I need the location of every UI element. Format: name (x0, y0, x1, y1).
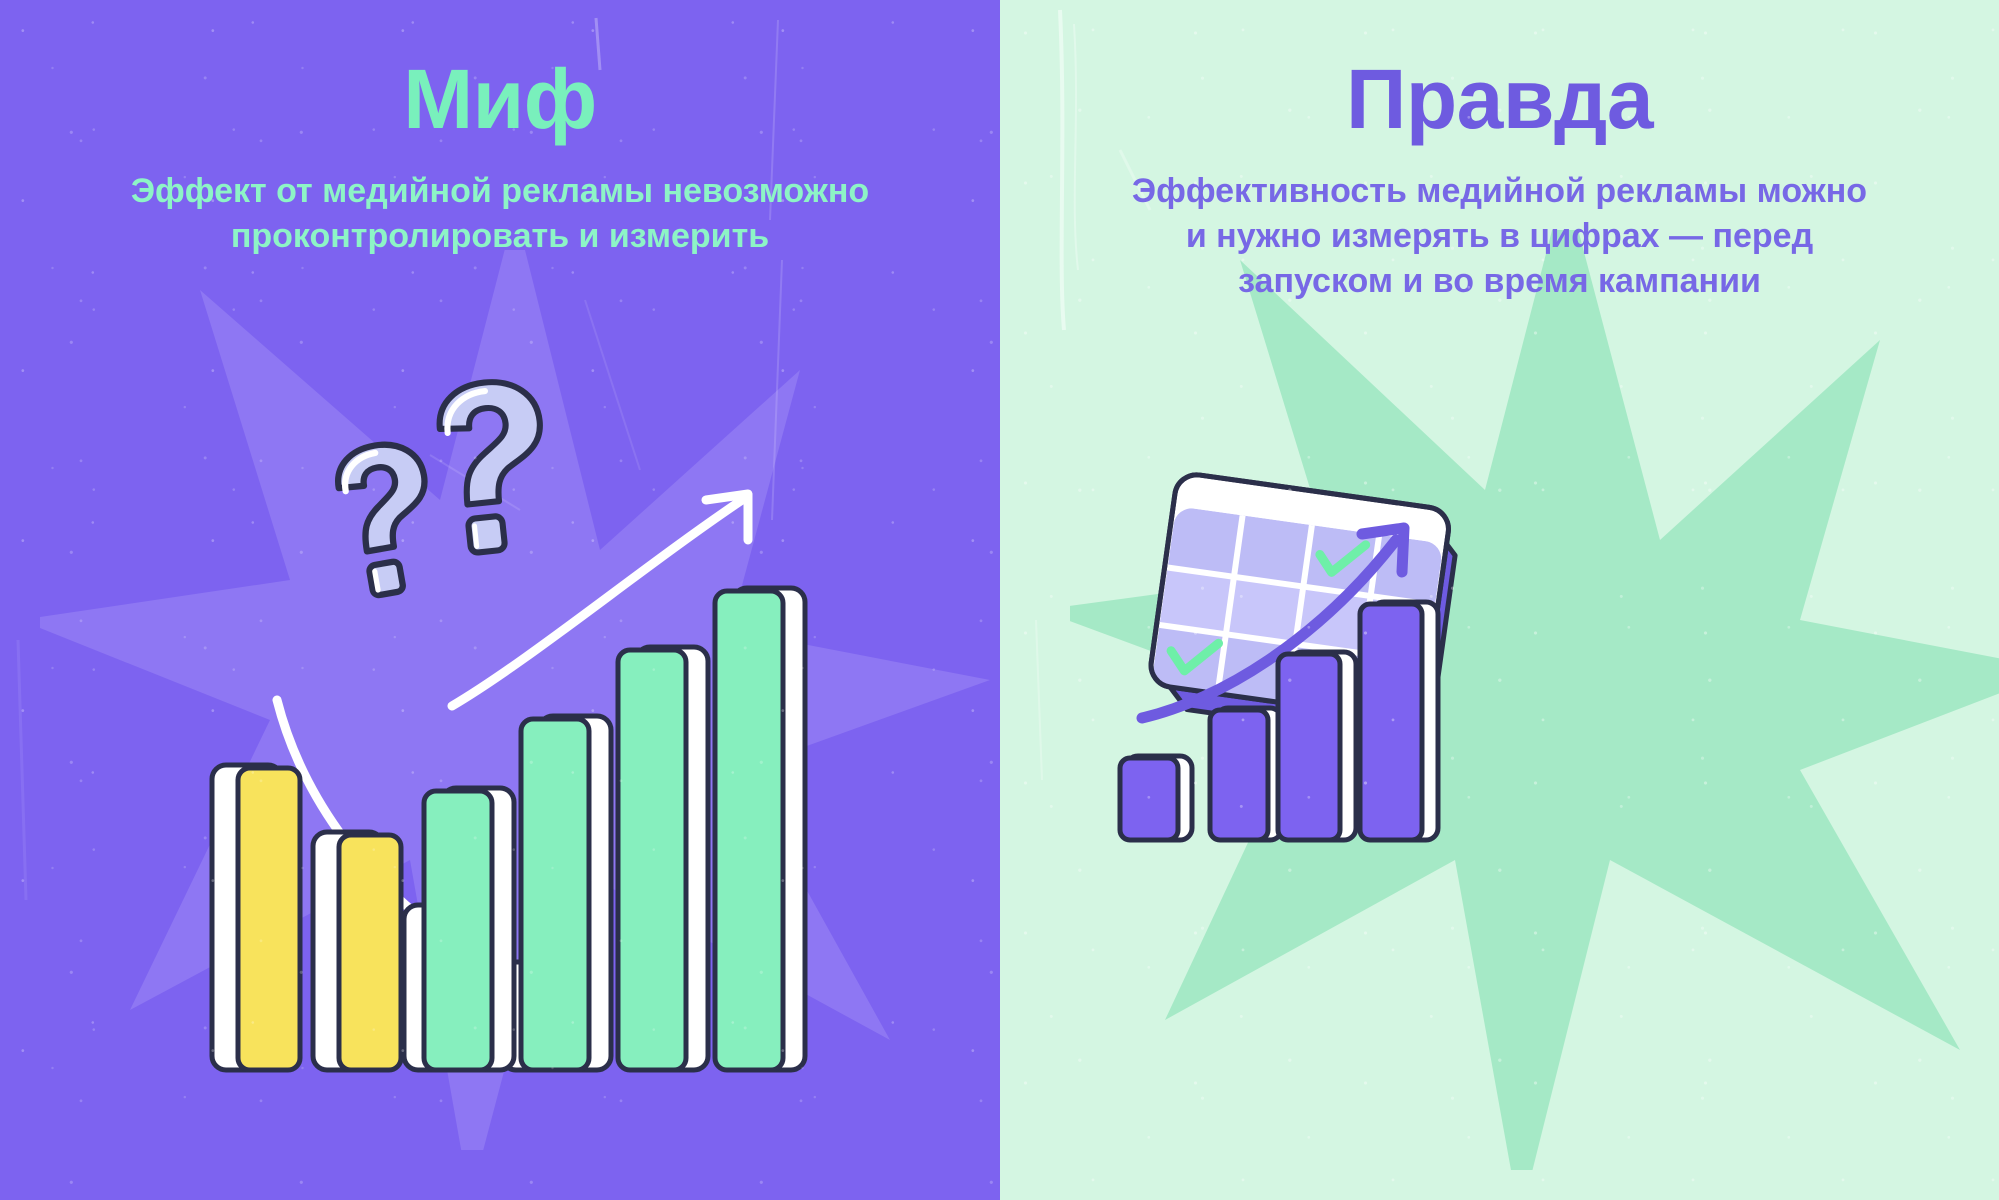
star-background-shape (40, 250, 990, 1150)
bar-group-declining (212, 765, 590, 1070)
up-arrow-icon (1142, 528, 1404, 718)
bar-item (313, 832, 401, 1070)
truth-subtitle: Эффективность медийной рекламы можно и н… (1000, 169, 1999, 304)
bar-item (1210, 708, 1282, 840)
bar-item (1120, 756, 1192, 840)
question-mark-icon (333, 438, 444, 599)
bar-item (1278, 652, 1356, 840)
bar-item (502, 962, 590, 1070)
bar-group-truth (1120, 602, 1438, 840)
bar-item (1360, 602, 1438, 840)
bar-item (212, 765, 300, 1070)
bar-item (715, 588, 805, 1070)
bar-item (404, 905, 492, 1070)
myth-subtitle-line-1: Эффект от медийной рекламы невозможно (0, 169, 1000, 214)
bar-item (521, 716, 611, 1070)
truth-heading-block: Правда Эффективность медийной рекламы мо… (1000, 55, 1999, 304)
page-title-myth: Миф (0, 55, 1000, 143)
bar-group-rising (424, 588, 805, 1070)
check-icon (1318, 539, 1366, 577)
myth-subtitle: Эффект от медийной рекламы невозможно пр… (0, 169, 1000, 259)
truth-panel: Правда Эффективность медийной рекламы мо… (1000, 0, 1999, 1200)
myth-heading-block: Миф Эффект от медийной рекламы невозможн… (0, 55, 1000, 259)
bar-item (424, 788, 514, 1070)
check-icon (1169, 637, 1219, 675)
down-arrow-icon (277, 700, 462, 962)
spreadsheet-icon (1145, 472, 1461, 744)
myth-panel: Миф Эффект от медийной рекламы невозможн… (0, 0, 1000, 1200)
truth-subtitle-line-1: Эффективность медийной рекламы можно (1000, 169, 1999, 214)
star-background-shape (1070, 230, 1999, 1170)
comparison-slide: Миф Эффект от медийной рекламы невозможн… (0, 0, 1999, 1200)
page-title-truth: Правда (1000, 55, 1999, 143)
bar-item (618, 647, 708, 1070)
up-arrow-icon (452, 494, 748, 706)
truth-subtitle-line-3: запуском и во время кампании (1000, 259, 1999, 304)
question-mark-icon (436, 377, 553, 555)
truth-subtitle-line-2: и нужно измерять в цифрах — перед (1000, 214, 1999, 259)
myth-subtitle-line-2: проконтролировать и измерить (0, 214, 1000, 259)
